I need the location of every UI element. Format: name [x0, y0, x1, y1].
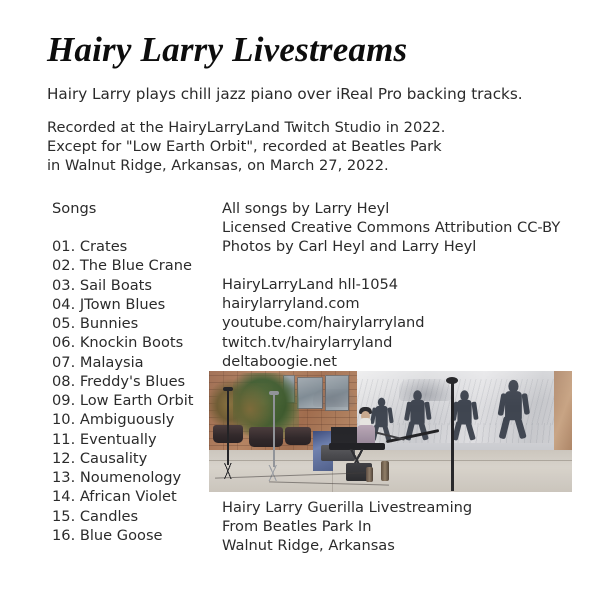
- list-item: 01. Crates: [52, 237, 212, 256]
- recording-note-line: Recorded at the HairyLarryLand Twitch St…: [47, 119, 445, 138]
- list-item: 03. Sail Boats: [52, 276, 212, 295]
- list-item: 05. Bunnies: [52, 314, 212, 333]
- photo-canvas: [209, 371, 572, 492]
- thermos: [381, 461, 389, 481]
- beatle-silhouette: [453, 390, 478, 439]
- credits-block: All songs by Larry Heyl Licensed Creativ…: [222, 199, 560, 257]
- credits-line: All songs by Larry Heyl: [222, 199, 560, 218]
- planter-pot: [285, 427, 311, 445]
- list-item: 09. Low Earth Orbit: [52, 391, 212, 410]
- mural-car-shape: [313, 389, 355, 407]
- music-stand: [331, 427, 357, 443]
- list-item: 10. Ambiguously: [52, 410, 212, 429]
- link-twitch[interactable]: twitch.tv/hairylarryland: [222, 333, 425, 352]
- performance-photo: [209, 371, 572, 492]
- list-item: 15. Candles: [52, 507, 212, 526]
- songs-column: Songs 01. Crates 02. The Blue Crane 03. …: [52, 199, 212, 545]
- list-item: 12. Causality: [52, 449, 212, 468]
- link-youtube[interactable]: youtube.com/hairylarryland: [222, 313, 425, 332]
- photo-caption-line: Hairy Larry Guerilla Livestreaming: [222, 498, 472, 517]
- list-item: 13. Noumenology: [52, 468, 212, 487]
- right-wall-strip: [554, 371, 572, 457]
- songs-heading: Songs: [52, 199, 212, 218]
- list-item: 06. Knockin Boots: [52, 333, 212, 352]
- recording-note-line: in Walnut Ridge, Arkansas, on March 27, …: [47, 157, 445, 176]
- list-item: 16. Blue Goose: [52, 526, 212, 545]
- list-item: 02. The Blue Crane: [52, 256, 212, 275]
- link-website[interactable]: hairylarryland.com: [222, 294, 425, 313]
- link-deltaboogie[interactable]: deltaboogie.net: [222, 352, 425, 371]
- recording-note-line: Except for "Low Earth Orbit", recorded a…: [47, 138, 445, 157]
- list-item: 04. JTown Blues: [52, 295, 212, 314]
- catalog-number: HairyLarryLand hll-1054: [222, 275, 425, 294]
- list-item: 11. Eventually: [52, 430, 212, 449]
- planter-pot: [249, 427, 283, 447]
- list-item: 14. African Violet: [52, 487, 212, 506]
- song-list: 01. Crates 02. The Blue Crane 03. Sail B…: [52, 237, 212, 545]
- page-subtitle: Hairy Larry plays chill jazz piano over …: [47, 84, 523, 104]
- photo-caption-line: Walnut Ridge, Arkansas: [222, 536, 472, 555]
- thermos: [366, 467, 373, 482]
- beatle-silhouette: [499, 380, 528, 438]
- photo-caption-line: From Beatles Park In: [222, 517, 472, 536]
- list-item: 07. Malaysia: [52, 353, 212, 372]
- recording-note: Recorded at the HairyLarryLand Twitch St…: [47, 119, 445, 175]
- album-liner-notes-page: Hairy Larry Livestreams Hairy Larry play…: [0, 0, 600, 600]
- list-item: 08. Freddy's Blues: [52, 372, 212, 391]
- page-title: Hairy Larry Livestreams: [47, 30, 407, 70]
- credits-line: Licensed Creative Commons Attribution CC…: [222, 218, 560, 237]
- links-block: HairyLarryLand hll-1054 hairylarryland.c…: [222, 275, 425, 371]
- credits-line: Photos by Carl Heyl and Larry Heyl: [222, 237, 560, 256]
- photo-caption: Hairy Larry Guerilla Livestreaming From …: [222, 498, 472, 556]
